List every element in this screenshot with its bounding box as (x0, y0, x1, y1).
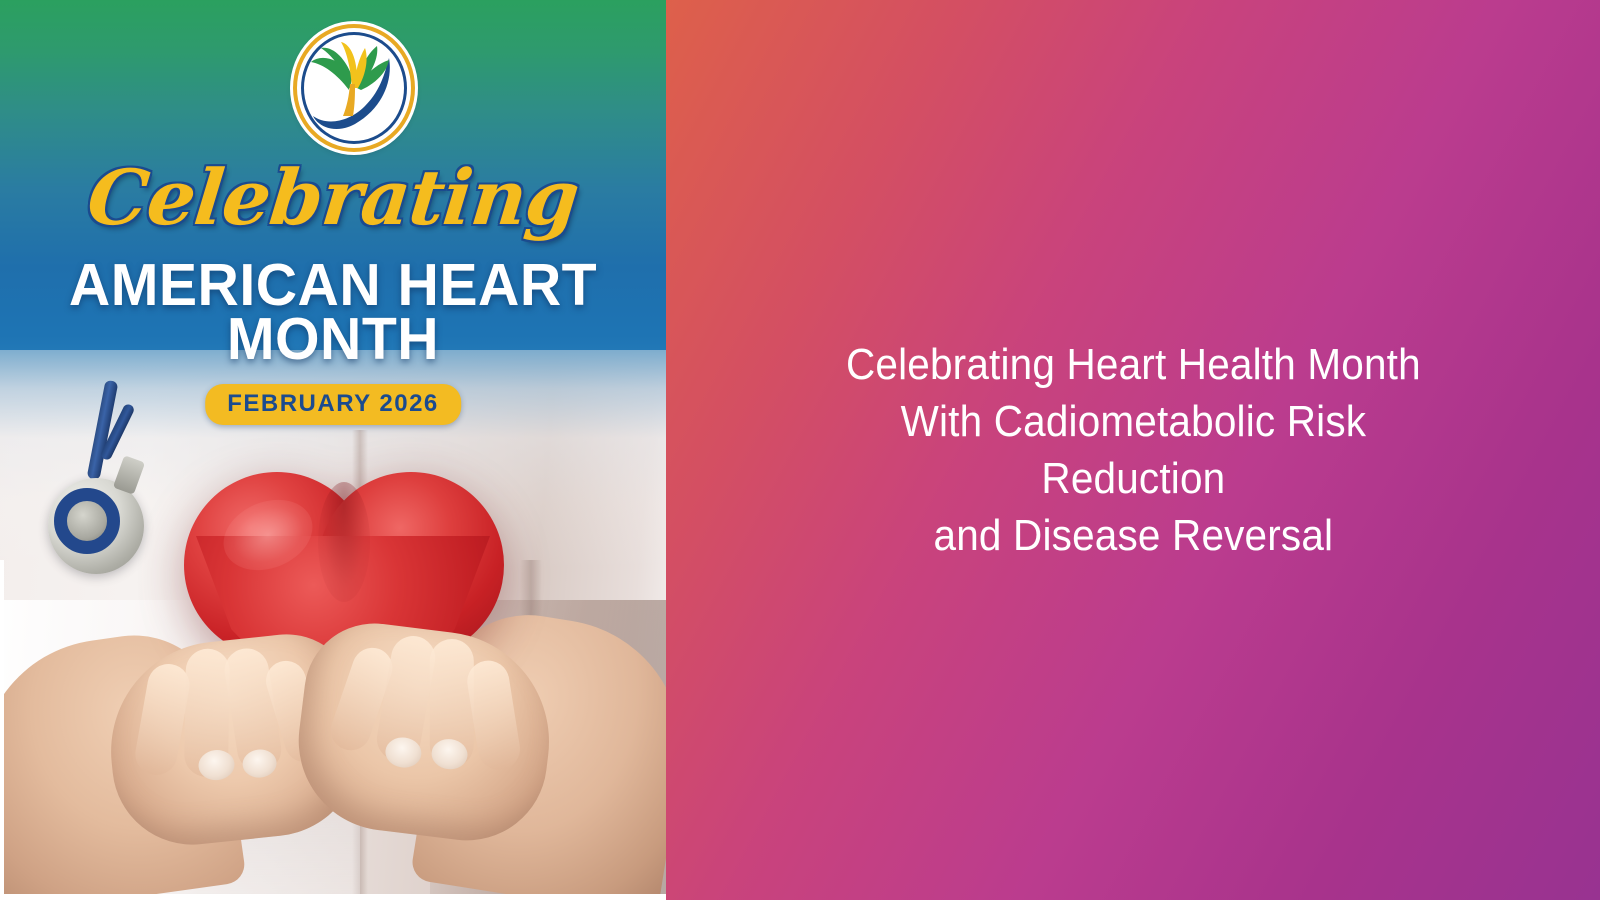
heart-cleft-shadow (318, 482, 370, 602)
logo-inner-ring (301, 32, 407, 144)
banner-headline-line-2: MONTH (10, 310, 656, 369)
photo-edge-bottom (0, 894, 666, 900)
right-headline-block: Celebrating Heart Health Month With Cadi… (666, 0, 1600, 900)
finger-r4 (464, 658, 523, 773)
slide-headline: Celebrating Heart Health Month With Cadi… (846, 336, 1421, 565)
stethoscope-diaphragm-ring (54, 488, 120, 554)
banner-script-word: Celebrating (0, 160, 666, 236)
banner-date-badge: FEBRUARY 2026 (205, 384, 461, 425)
headline-line-1: Celebrating Heart Health Month (846, 336, 1421, 393)
presentation-slide: Celebrating Heart Health Month With Cadi… (0, 0, 1600, 900)
headline-line-4: and Disease Reversal (846, 507, 1421, 564)
headline-line-3: Reduction (846, 450, 1421, 507)
finger-l1 (132, 661, 193, 779)
organization-logo-icon (293, 24, 415, 152)
photo-edge-left (0, 560, 4, 900)
heart-month-promo-image: Celebrating AMERICAN HEART MONTH FEBRUAR… (0, 0, 666, 900)
headline-line-2: With Cadiometabolic Risk (846, 393, 1421, 450)
